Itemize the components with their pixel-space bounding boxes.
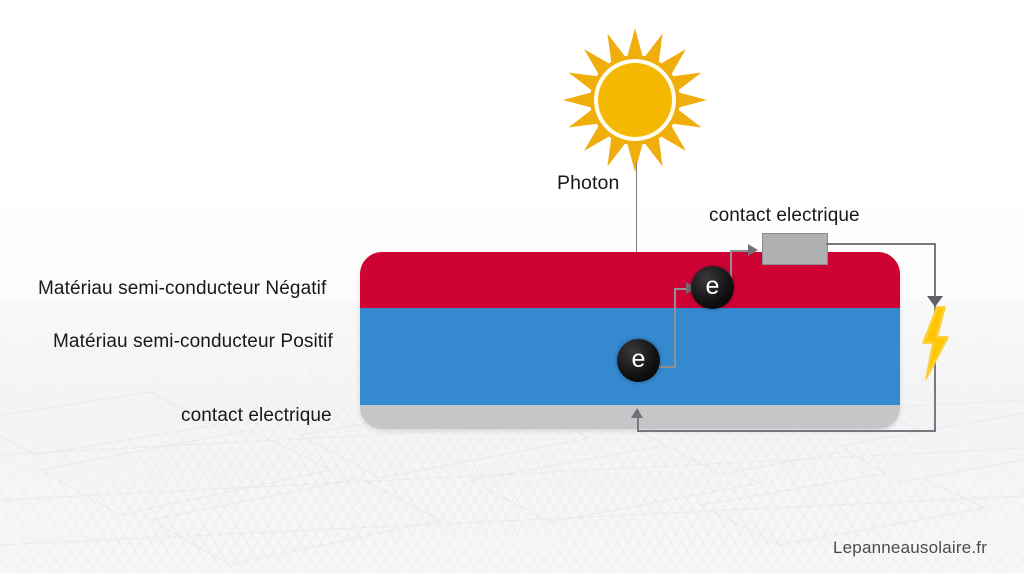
electron-upper: e	[691, 266, 734, 309]
sun-icon	[562, 27, 708, 173]
positive-layer-label: Matériau semi-conducteur Positif	[53, 331, 333, 353]
top-contact-label: contact electrique	[709, 205, 860, 227]
electron-lower-glyph: e	[632, 347, 646, 372]
back-contact-layer	[360, 405, 900, 429]
photon-label: Photon	[557, 172, 619, 194]
electron-lower: e	[617, 339, 660, 382]
electron-path-segment-vertical	[674, 290, 676, 368]
site-watermark: Lepanneausolaire.fr	[833, 538, 987, 558]
negative-layer-label: Matériau semi-conducteur Négatif	[38, 278, 326, 300]
bottom-contact-label: contact electrique	[181, 405, 332, 427]
lightning-bolt-icon	[916, 305, 954, 381]
electron-upper-glyph: e	[706, 274, 720, 299]
diagram-canvas: Photon Matériau semi-conducteur Négatif …	[0, 0, 1024, 573]
circuit-wire-top	[826, 243, 936, 245]
arrow-current-up-icon	[631, 408, 643, 418]
circuit-wire-bottom	[637, 430, 936, 432]
arrow-to-contact-block-icon	[748, 244, 758, 256]
electrical-contact-block	[762, 233, 828, 265]
